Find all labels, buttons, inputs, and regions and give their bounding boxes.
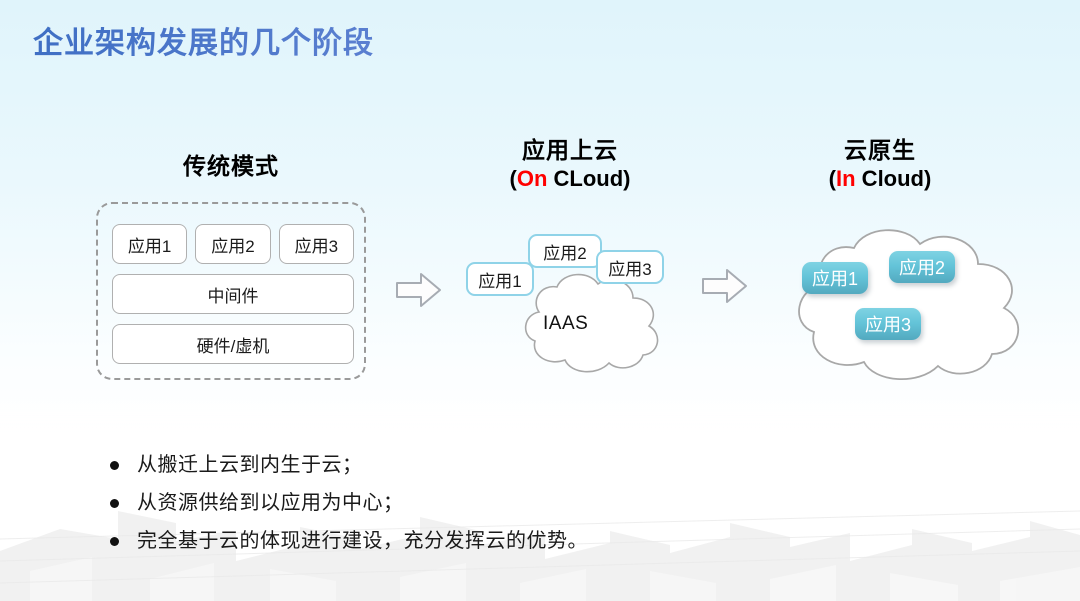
cloud-native-app-chip-3: 应用3 (855, 308, 921, 340)
page-title: 企业架构发展的几个阶段 (33, 22, 733, 66)
list-item: 完全基于云的体现进行建设，充分发挥云的优势。 (110, 528, 810, 554)
traditional-hardware-box: 硬件/虚机 (112, 324, 354, 364)
on-cloud-rest: CLoud (547, 166, 623, 191)
bullet-dot-icon (110, 537, 119, 546)
stage-heading-cloud-native: 云原生 (In Cloud) (760, 136, 1000, 194)
stage-heading-on-cloud: 应用上云 (On CLoud) (440, 136, 700, 194)
on-cloud-app-chip-3: 应用3 (596, 250, 664, 284)
list-item-text: 完全基于云的体现进行建设，充分发挥云的优势。 (137, 528, 588, 554)
cloud-native-cloud-shape (762, 222, 1042, 392)
traditional-app-box-2: 应用2 (195, 224, 270, 264)
cloud-native-app-chip-2: 应用2 (889, 251, 955, 283)
traditional-app-box-3: 应用3 (279, 224, 354, 264)
on-cloud-highlight: On (517, 166, 548, 191)
stage-heading-cloud-native-en: (In Cloud) (760, 165, 1000, 193)
traditional-middleware-box: 中间件 (112, 274, 354, 314)
traditional-app-row: 应用1 应用2 应用3 (112, 224, 354, 264)
bullet-dot-icon (110, 461, 119, 470)
iaas-cloud-label: IAAS (543, 313, 588, 335)
paren-open: ( (829, 166, 836, 191)
traditional-app-box-1: 应用1 (112, 224, 187, 264)
paren-close: ) (924, 166, 931, 191)
slide-canvas: 企业架构发展的几个阶段 传统模式 应用1 应用2 应用3 中间件 硬件/虚机 应… (0, 0, 1080, 601)
list-item-text: 从搬迁上云到内生于云； (137, 452, 363, 478)
bullet-dot-icon (110, 499, 119, 508)
stage-heading-traditional: 传统模式 (96, 152, 366, 181)
key-points-list: 从搬迁上云到内生于云； 从资源供给到以应用为中心； 完全基于云的体现进行建设，充… (110, 452, 810, 566)
stage-heading-on-cloud-cn: 应用上云 (440, 136, 700, 165)
stage-heading-cloud-native-cn: 云原生 (760, 136, 1000, 165)
stage-heading-on-cloud-en: (On CLoud) (440, 165, 700, 193)
stage-heading-traditional-cn: 传统模式 (96, 152, 366, 181)
list-item-text: 从资源供给到以应用为中心； (137, 490, 404, 516)
paren-open: ( (510, 166, 517, 191)
arrow-right-icon-2 (702, 268, 748, 304)
on-cloud-app-chip-2: 应用2 (528, 234, 602, 268)
list-item: 从搬迁上云到内生于云； (110, 452, 810, 478)
paren-close: ) (623, 166, 630, 191)
list-item: 从资源供给到以应用为中心； (110, 490, 810, 516)
traditional-architecture-container: 应用1 应用2 应用3 中间件 硬件/虚机 (96, 202, 366, 380)
cloud-native-app-chip-1: 应用1 (802, 262, 868, 294)
in-cloud-rest: Cloud (856, 166, 924, 191)
in-cloud-highlight: In (836, 166, 856, 191)
page-title-text: 企业架构发展的几个阶段 (33, 22, 733, 66)
on-cloud-app-chip-1: 应用1 (466, 262, 534, 296)
arrow-right-icon-1 (396, 272, 442, 308)
